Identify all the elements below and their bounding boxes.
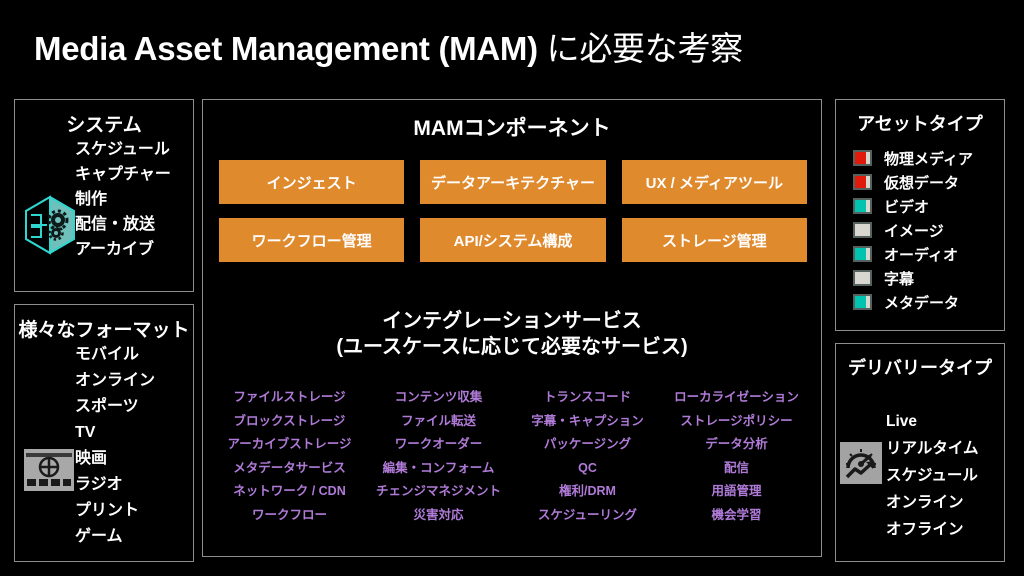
panel-formats-body: モバイル オンライン スポーツ TV 映画 ラジオ プリント ゲーム — [15, 342, 193, 560]
service-item[interactable]: トランスコード — [513, 386, 662, 410]
integration-services-heading-line1: インテグレーションサービス — [203, 308, 821, 334]
service-item[interactable]: QC — [513, 457, 662, 481]
service-item[interactable]: 権利/DRM — [513, 480, 662, 504]
asset-type-list: 物理メディア 仮想データ ビデオ イメージ オーディオ 字幕 — [853, 146, 973, 314]
panel-asset-types: アセットタイプ 物理メディア 仮想データ ビデオ イメージ オーディオ — [835, 99, 1005, 331]
mam-component-box[interactable]: データアーキテクチャー — [420, 160, 605, 204]
format-item[interactable]: スポーツ — [75, 394, 185, 420]
service-item[interactable]: ワークフロー — [215, 504, 364, 528]
system-item[interactable]: 制作 — [75, 187, 185, 212]
service-item[interactable]: 配信 — [662, 457, 811, 481]
mam-component-box[interactable]: インジェスト — [219, 160, 404, 204]
delivery-type-item[interactable]: オフライン — [886, 516, 979, 543]
system-item[interactable]: キャプチャー — [75, 162, 185, 187]
service-item[interactable]: ストレージポリシー — [662, 410, 811, 434]
system-item[interactable]: 配信・放送 — [75, 212, 185, 237]
asset-type-label: ビデオ — [884, 196, 929, 217]
page-title-main: Media Asset Management (MAM) — [34, 30, 547, 67]
system-item[interactable]: スケジュール — [75, 137, 185, 162]
system-hex-gear-icon — [23, 195, 77, 260]
service-item[interactable]: 機会学習 — [662, 504, 811, 528]
asset-swatch-icon — [853, 270, 872, 286]
asset-type-row[interactable]: 物理メディア — [853, 146, 973, 170]
service-item[interactable]: ネットワーク / CDN — [215, 480, 364, 504]
delivery-type-item[interactable]: スケジュール — [886, 462, 979, 489]
delivery-type-item[interactable]: オンライン — [886, 489, 979, 516]
integration-services-heading-line2: (ユースケースに応じて必要なサービス) — [203, 334, 821, 361]
asset-swatch-icon — [853, 294, 872, 310]
format-item[interactable]: 映画 — [75, 446, 185, 472]
service-item[interactable]: チェンジマネジメント — [364, 480, 513, 504]
format-item[interactable]: プリント — [75, 498, 185, 524]
asset-type-row[interactable]: オーディオ — [853, 242, 973, 266]
panel-delivery-types-body: Live リアルタイム スケジュール オンライン オフライン — [836, 380, 1004, 561]
asset-type-label: イメージ — [884, 220, 944, 241]
panel-delivery-types-title: デリバリータイプ — [836, 354, 1004, 380]
asset-type-label: 物理メディア — [884, 148, 973, 169]
panel-system-body: スケジュール キャプチャー 制作 配信・放送 アーカイブ — [15, 137, 193, 290]
film-strip-icon — [23, 446, 75, 499]
integration-services-columns: ファイルストレージ ブロックストレージ アーカイブストレージ メタデータサービス… — [215, 386, 811, 527]
system-item-list: スケジュール キャプチャー 制作 配信・放送 アーカイブ — [75, 137, 185, 262]
panel-system: システム — [14, 99, 194, 292]
asset-type-row[interactable]: イメージ — [853, 218, 973, 242]
service-column: トランスコード 字幕・キャプション パッケージング QC 権利/DRM スケジュ… — [513, 386, 662, 527]
service-column: ローカライゼーション ストレージポリシー データ分析 配信 用語管理 機会学習 — [662, 386, 811, 527]
slide-canvas: Media Asset Management (MAM) に必要な考察 システム — [0, 0, 1024, 576]
panel-asset-types-title: アセットタイプ — [836, 110, 1004, 136]
service-item[interactable]: 用語管理 — [662, 480, 811, 504]
panel-formats-title: 様々なフォーマット — [15, 315, 193, 342]
page-title: Media Asset Management (MAM) に必要な考察 — [34, 22, 743, 70]
asset-swatch-icon — [853, 150, 872, 166]
service-item[interactable]: ファイル転送 — [364, 410, 513, 434]
mam-components-title: MAMコンポーネント — [203, 112, 821, 142]
asset-swatch-icon — [853, 198, 872, 214]
service-item[interactable]: スケジューリング — [513, 504, 662, 528]
service-item[interactable]: 編集・コンフォーム — [364, 457, 513, 481]
asset-type-row[interactable]: 字幕 — [853, 266, 973, 290]
asset-type-label: オーディオ — [884, 244, 958, 265]
service-item[interactable]: アーカイブストレージ — [215, 433, 364, 457]
format-item[interactable]: ゲーム — [75, 524, 185, 550]
panel-delivery-types: デリバリータイプ Live リアルタイム — [835, 343, 1005, 562]
service-item[interactable]: ブロックストレージ — [215, 410, 364, 434]
service-item[interactable]: ワークオーダー — [364, 433, 513, 457]
asset-swatch-icon — [853, 246, 872, 262]
mam-component-box[interactable]: ストレージ管理 — [622, 218, 807, 262]
service-item[interactable]: パッケージング — [513, 433, 662, 457]
asset-type-label: 仮想データ — [884, 172, 959, 193]
panel-formats: 様々なフォーマット モバイル オンライン — [14, 304, 194, 562]
service-item[interactable]: データ分析 — [662, 433, 811, 457]
mam-component-grid: インジェスト データアーキテクチャー UX / メディアツール ワークフロー管理… — [219, 160, 807, 262]
service-item[interactable]: 字幕・キャプション — [513, 410, 662, 434]
service-item[interactable]: 災害対応 — [364, 504, 513, 528]
asset-swatch-icon — [853, 222, 872, 238]
speedometer-gauge-icon — [840, 442, 882, 489]
delivery-type-item[interactable]: Live — [886, 408, 979, 435]
service-column: コンテンツ収集 ファイル転送 ワークオーダー 編集・コンフォーム チェンジマネジ… — [364, 386, 513, 527]
formats-item-list: モバイル オンライン スポーツ TV 映画 ラジオ プリント ゲーム — [75, 342, 185, 550]
format-item[interactable]: ラジオ — [75, 472, 185, 498]
panel-system-title: システム — [15, 110, 193, 137]
asset-swatch-icon — [853, 174, 872, 190]
asset-type-row[interactable]: 仮想データ — [853, 170, 973, 194]
mam-component-box[interactable]: API/システム構成 — [420, 218, 605, 262]
service-item[interactable]: ローカライゼーション — [662, 386, 811, 410]
page-title-jp: に必要な考察 — [547, 30, 743, 67]
delivery-type-list: Live リアルタイム スケジュール オンライン オフライン — [886, 408, 979, 543]
service-item[interactable]: ファイルストレージ — [215, 386, 364, 410]
service-item[interactable]: メタデータサービス — [215, 457, 364, 481]
asset-type-row[interactable]: メタデータ — [853, 290, 973, 314]
format-item[interactable]: モバイル — [75, 342, 185, 368]
asset-type-label: 字幕 — [884, 268, 914, 289]
mam-component-box[interactable]: ワークフロー管理 — [219, 218, 404, 262]
delivery-type-item[interactable]: リアルタイム — [886, 435, 979, 462]
mam-component-box[interactable]: UX / メディアツール — [622, 160, 807, 204]
integration-services-heading: インテグレーションサービス (ユースケースに応じて必要なサービス) — [203, 308, 821, 361]
system-item[interactable]: アーカイブ — [75, 237, 185, 262]
panel-mam-components: MAMコンポーネント インジェスト データアーキテクチャー UX / メディアツ… — [202, 99, 822, 557]
service-column: ファイルストレージ ブロックストレージ アーカイブストレージ メタデータサービス… — [215, 386, 364, 527]
format-item[interactable]: TV — [75, 420, 185, 446]
format-item[interactable]: オンライン — [75, 368, 185, 394]
service-item[interactable]: コンテンツ収集 — [364, 386, 513, 410]
asset-type-row[interactable]: ビデオ — [853, 194, 973, 218]
asset-type-label: メタデータ — [884, 292, 959, 313]
